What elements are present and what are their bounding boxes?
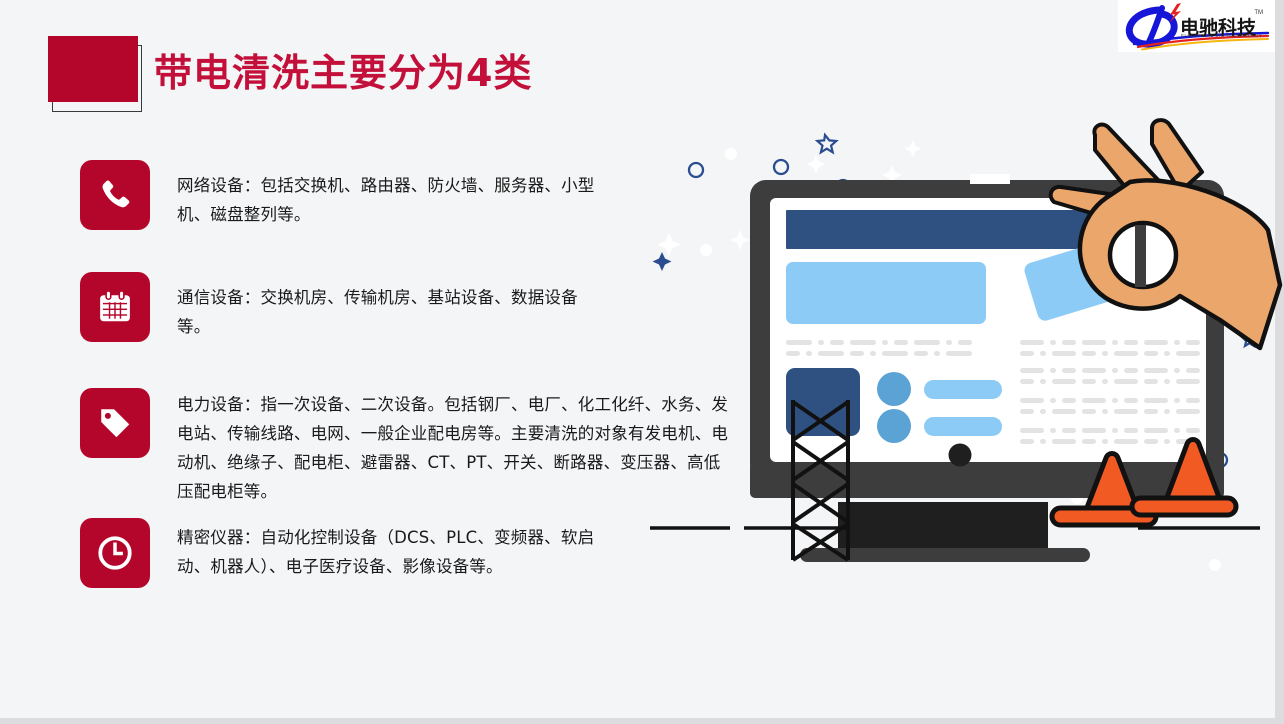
calendar-icon	[80, 272, 150, 342]
company-logo: 电驰科技 ELECTRICAL CHI TECHNOLOGY TM	[1118, 0, 1275, 52]
list-item-label: 网络设备：包括交换机、路由器、防火墙、服务器、小型机、磁盘整列等。	[177, 160, 597, 229]
title-square-fill	[48, 36, 138, 102]
monitor-notch	[970, 174, 1010, 184]
tag-icon	[80, 388, 150, 458]
page-gutter-bottom	[0, 718, 1284, 724]
monitor-stand-neck	[838, 502, 1048, 552]
page-title: 带电清洗主要分为4类	[154, 42, 532, 97]
list-item: 精密仪器：自动化控制设备（DCS、PLC、变频器、软启动、机器人）、电子医疗设备…	[80, 518, 597, 588]
mock-pill	[924, 380, 1002, 399]
list-item: 通信设备：交换机房、传输机房、基站设备、数据设备等。	[80, 272, 597, 342]
mock-pill	[924, 417, 1002, 436]
list-item: 电力设备：指一次设备、二次设备。包括钢厂、电厂、化工化纤、水务、发电站、传输线路…	[80, 388, 735, 506]
monitor-lower-bezel	[750, 462, 1224, 498]
bezel-through-hole	[1135, 225, 1146, 287]
mock-hero-panel	[786, 262, 986, 324]
phone-icon	[80, 160, 150, 230]
list-item-label: 通信设备：交换机房、传输机房、基站设备、数据设备等。	[177, 272, 597, 341]
slide-root: 电驰科技 ELECTRICAL CHI TECHNOLOGY TM 带电清洗主要…	[0, 0, 1284, 724]
logo-english-name: ELECTRICAL CHI TECHNOLOGY	[1181, 33, 1262, 38]
clock-icon	[80, 518, 150, 588]
logo-trademark: TM	[1254, 10, 1263, 16]
mock-avatar	[877, 409, 911, 443]
monitor-power-button	[949, 444, 972, 467]
list-item-label: 精密仪器：自动化控制设备（DCS、PLC、变频器、软启动、机器人）、电子医疗设备…	[177, 518, 597, 581]
mock-avatar	[877, 372, 911, 406]
list-item: 网络设备：包括交换机、路由器、防火墙、服务器、小型机、磁盘整列等。	[80, 160, 597, 230]
monitor-hand-illustration	[640, 110, 1284, 590]
